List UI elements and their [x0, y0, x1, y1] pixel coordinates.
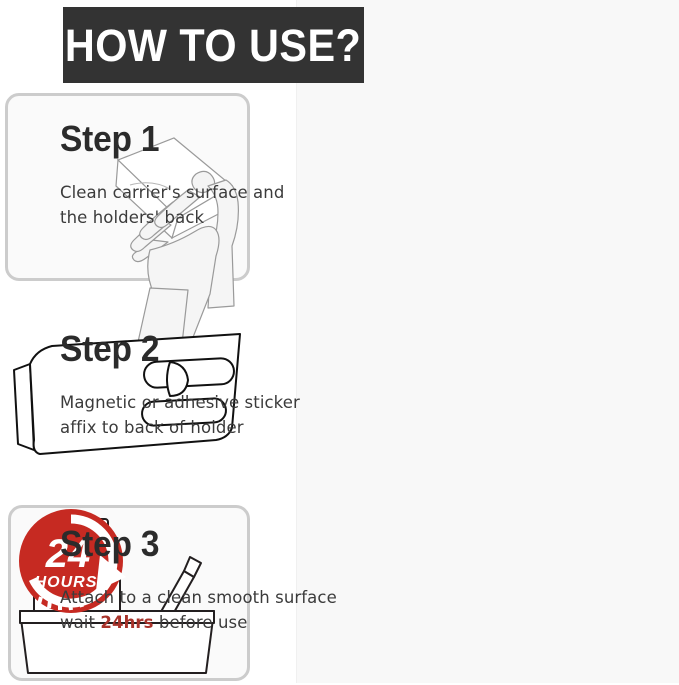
step-1-title: Step 1 — [60, 120, 358, 158]
step-3-body-line-1: Attach to a clean smooth surface — [60, 588, 337, 607]
step-3-wait-duration: 24hrs — [100, 613, 153, 632]
step-1-block: Step 1 Clean carrier's surface and the h… — [60, 120, 380, 231]
page-title: HOW TO USE? — [65, 23, 361, 68]
step-2-title: Step 2 — [60, 330, 358, 368]
step-3-body: Attach to a clean smooth surface wait 24… — [60, 585, 380, 636]
step-3-body-line-2-suffix: before use — [154, 613, 248, 632]
step-3-block: Step 3 Attach to a clean smooth surface … — [60, 525, 380, 636]
step-1-body-line-2: the holders' back — [60, 208, 204, 227]
step-2-body-line-2: affix to back of holder — [60, 418, 244, 437]
step-1-body-line-1: Clean carrier's surface and — [60, 183, 284, 202]
step-3-title: Step 3 — [60, 525, 358, 563]
step-2-body-line-1: Magnetic or adhesive sticker — [60, 393, 300, 412]
step-2-body: Magnetic or adhesive sticker affix to ba… — [60, 390, 380, 441]
step-1-body: Clean carrier's surface and the holders'… — [60, 180, 380, 231]
header-banner: HOW TO USE? — [63, 7, 364, 83]
infographic-page: HOW TO USE? — [0, 0, 679, 683]
step-3-body-line-2-prefix: wait — [60, 613, 100, 632]
step-2-block: Step 2 Magnetic or adhesive sticker affi… — [60, 330, 380, 441]
